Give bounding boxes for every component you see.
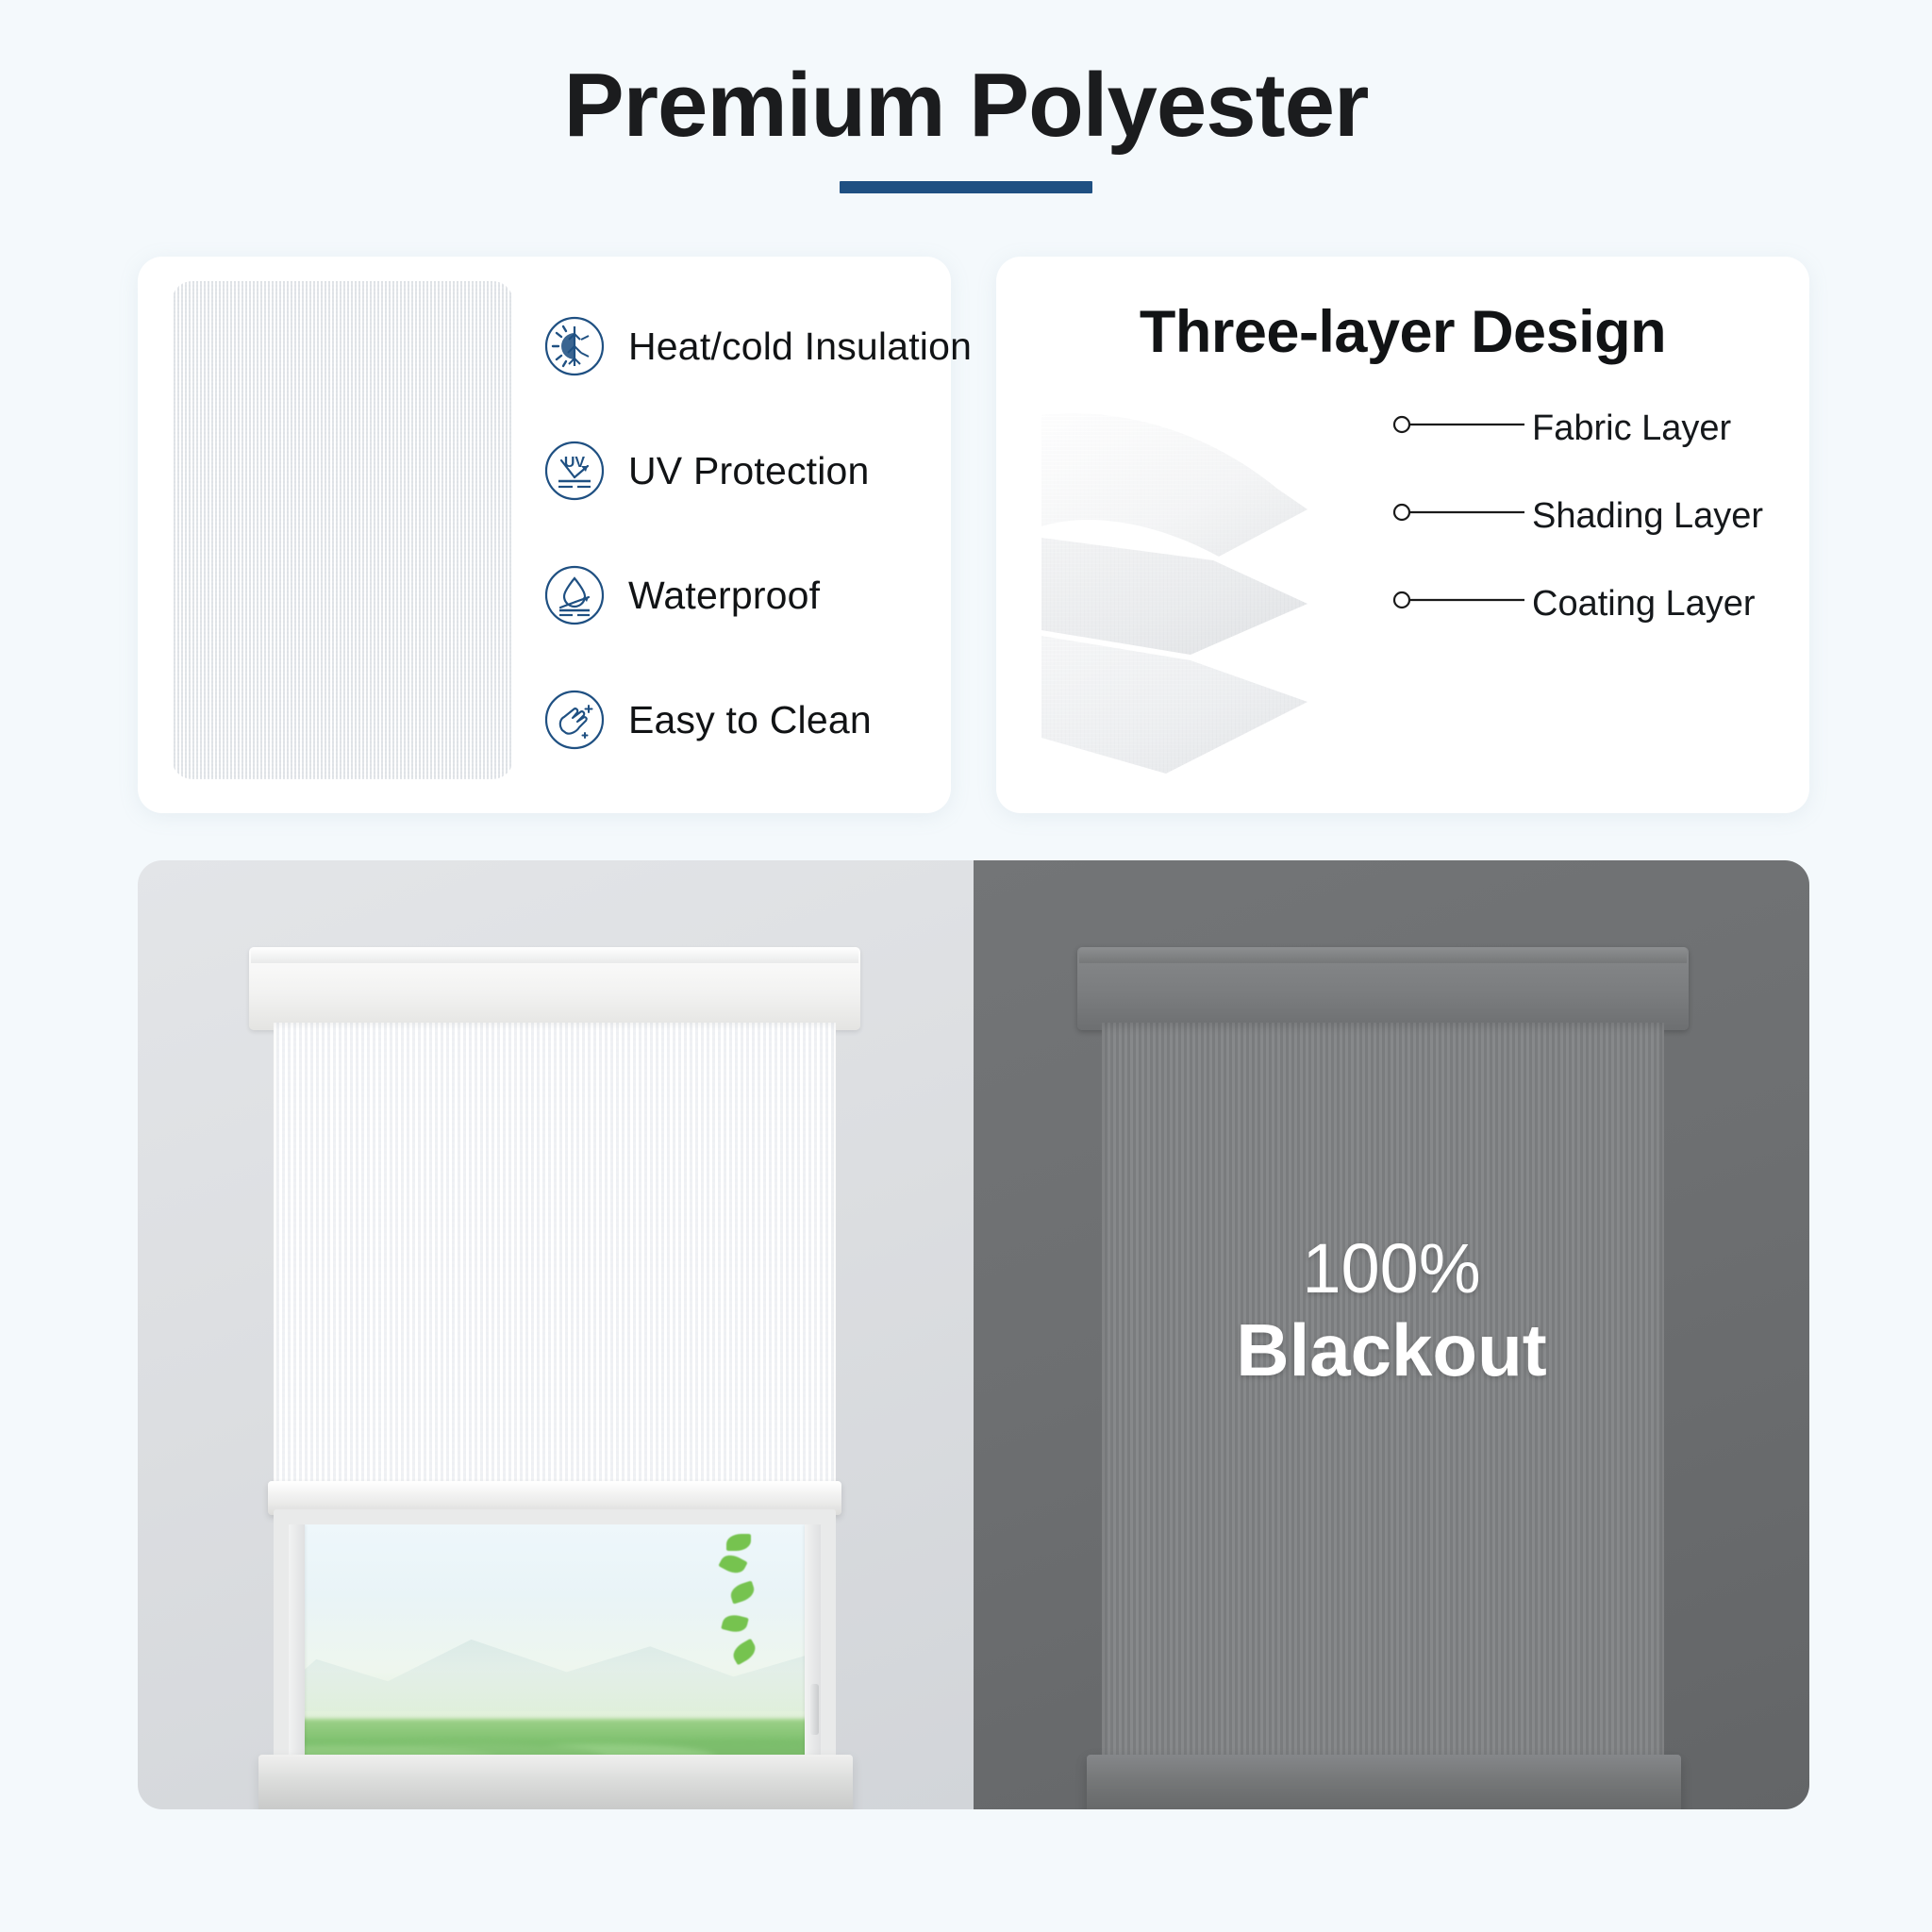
window-handle: [810, 1684, 819, 1735]
blind-headrail: [1077, 947, 1689, 1030]
feature-label: Waterproof: [628, 574, 820, 618]
layer-label-shading: Shading Layer: [1532, 496, 1763, 537]
photo-panel-daylight: [138, 860, 974, 1809]
feature-label: UV Protection: [628, 449, 870, 493]
blind-fabric-panel-closed: [1102, 1023, 1664, 1774]
window-frame: [274, 1509, 836, 1792]
heat-cold-insulation-icon: [543, 315, 606, 377]
page-title: Premium Polyester: [0, 58, 1932, 154]
infographic-page: Premium Polyester: [0, 0, 1932, 1932]
treeline-near: [289, 1717, 821, 1757]
feature-item-uv: UV UV Protection: [543, 419, 940, 523]
header: Premium Polyester: [0, 0, 1932, 236]
feature-item-easy-clean: Easy to Clean: [543, 668, 940, 772]
headrail-top-edge: [1079, 947, 1687, 963]
window-glass-view: [289, 1524, 821, 1777]
blackout-percent: 100%: [974, 1228, 1809, 1308]
waterproof-icon: [543, 564, 606, 626]
easy-to-clean-icon: [543, 689, 606, 751]
three-layer-card: Three-layer Design: [996, 257, 1809, 813]
feature-label: Heat/cold Insulation: [628, 325, 972, 369]
blind-fabric-panel: [274, 1023, 836, 1485]
layer-label-coating: Coating Layer: [1532, 584, 1756, 625]
feature-card: Heat/cold Insulation UV: [138, 257, 951, 813]
title-underline-accent: [840, 181, 1092, 193]
blackout-caption: 100% Blackout: [974, 1228, 1809, 1393]
fabric-swatch: [172, 281, 513, 779]
photo-panel-blackout: 100% Blackout: [974, 860, 1809, 1809]
three-layer-illustration: [1024, 398, 1402, 794]
window-assembly-light: [249, 947, 860, 1741]
feature-item-waterproof: Waterproof: [543, 543, 940, 647]
window-frame-border: [274, 1509, 836, 1792]
cards-row: Heat/cold Insulation UV: [0, 257, 1932, 823]
window-sill: [1087, 1755, 1681, 1809]
feature-label: Easy to Clean: [628, 698, 872, 742]
window-sill: [258, 1755, 853, 1809]
feature-item-insulation: Heat/cold Insulation: [543, 294, 940, 398]
layer-label-fabric: Fabric Layer: [1532, 408, 1731, 449]
comparison-photo-strip: 100% Blackout: [138, 860, 1809, 1809]
feature-list: Heat/cold Insulation UV: [543, 294, 940, 772]
headrail-top-edge: [251, 947, 858, 963]
blind-headrail: [249, 947, 860, 1030]
three-layer-title: Three-layer Design: [996, 298, 1809, 366]
hanging-vine: [719, 1524, 762, 1681]
layer-label-list: Fabric Layer Shading Layer Coating Layer: [1392, 398, 1798, 794]
uv-protection-icon: UV: [543, 440, 606, 502]
blackout-word: Blackout: [974, 1308, 1809, 1393]
